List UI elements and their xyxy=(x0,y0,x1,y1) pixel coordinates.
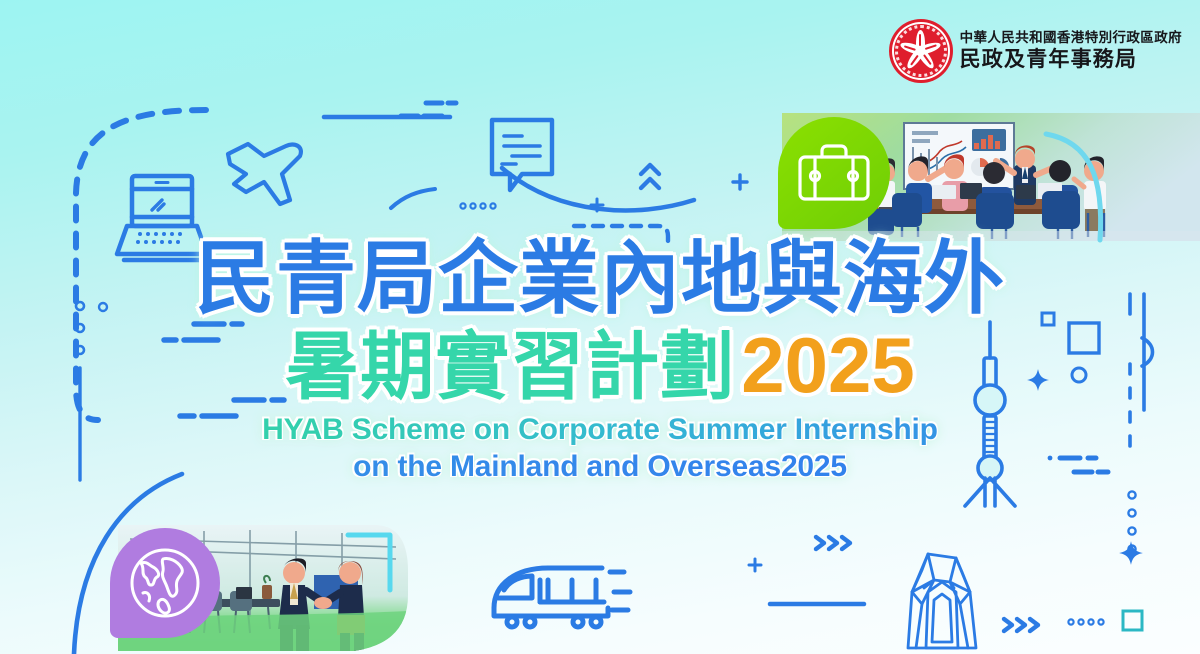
plus-mark-icon xyxy=(730,172,750,192)
headline-block: 民青局企業內地與海外 暑期實習計劃2025 xyxy=(0,238,1200,405)
government-line-2: 民政及青年事務局 xyxy=(960,48,1182,72)
subtitle-line-2: on the Mainland and Overseas2025 xyxy=(0,449,1200,486)
government-logo: 中華人民共和國香港特別行政區政府 民政及青年事務局 xyxy=(892,22,1182,80)
headline-line-1: 民青局企業內地與海外 xyxy=(0,238,1200,320)
dash-cluster-icon xyxy=(398,98,468,128)
subtitle-line-1: HYAB Scheme on Corporate Summer Internsh… xyxy=(0,412,1200,449)
arc-line-icon xyxy=(388,186,438,212)
accent-line xyxy=(768,600,868,608)
government-name: 中華人民共和國香港特別行政區政府 民政及青年事務局 xyxy=(960,30,1182,72)
globe-icon xyxy=(127,545,203,621)
airplane-icon xyxy=(224,130,316,208)
circle-column-icon xyxy=(1124,488,1140,558)
hong-kong-sar-emblem xyxy=(892,22,950,80)
high-speed-train-icon xyxy=(490,562,640,630)
chevron-up-icon xyxy=(636,160,664,194)
briefcase-badge xyxy=(778,117,890,229)
square-outline-icon xyxy=(1120,608,1146,634)
plus-mark-icon xyxy=(588,196,606,214)
subtitle-block: HYAB Scheme on Corporate Summer Internsh… xyxy=(0,412,1200,485)
promotional-banner: 中華人民共和國香港特別行政區政府 民政及青年事務局 民青局企業內地與海外 暑期實… xyxy=(0,0,1200,654)
crystal-building-icon xyxy=(898,548,988,654)
accent-line xyxy=(322,113,452,121)
chevron-right-icon xyxy=(812,532,854,554)
government-line-1: 中華人民共和國香港特別行政區政府 xyxy=(960,30,1182,45)
diamond-sparkle-icon xyxy=(1118,540,1144,566)
headline-line-2-chinese: 暑期實習計劃 xyxy=(285,325,735,408)
arc-line-icon xyxy=(498,160,698,220)
briefcase-icon xyxy=(797,143,871,203)
headline-year: 2025 xyxy=(741,321,915,409)
headline-line-2: 暑期實習計劃2025 xyxy=(0,326,1200,406)
chevron-right-icon xyxy=(1000,614,1042,636)
globe-badge xyxy=(110,528,220,638)
dot-row-icon xyxy=(458,200,502,212)
speech-bubble-icon xyxy=(488,116,560,198)
plus-mark-icon xyxy=(746,556,764,574)
dot-row-icon xyxy=(1066,616,1110,628)
